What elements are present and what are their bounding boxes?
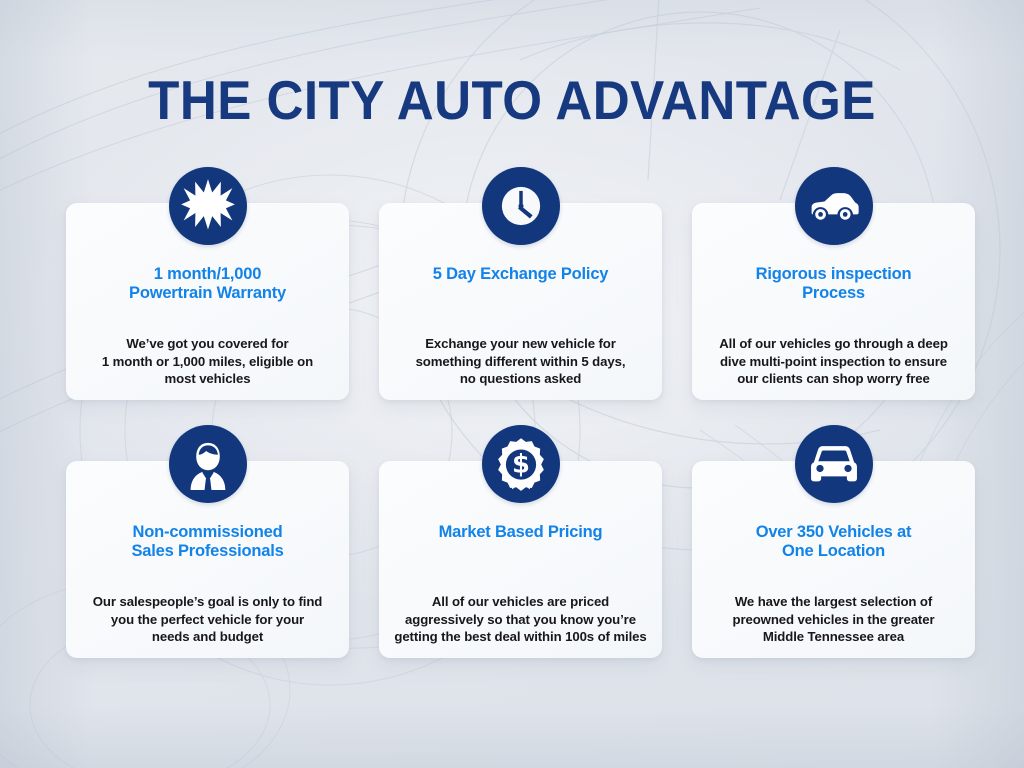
car-side-icon [795, 167, 873, 245]
card-body: We have the largest selection ofpreowned… [702, 593, 965, 646]
card-heading: Over 350 Vehicles atOne Location [704, 523, 963, 561]
advantage-card[interactable]: 5 Day Exchange Policy Exchange your new … [379, 203, 662, 400]
clock-icon [482, 167, 560, 245]
salesperson-icon [169, 425, 247, 503]
card-body: All of our vehicles go through a deepdiv… [702, 335, 965, 388]
starburst-icon [169, 167, 247, 245]
dollar-badge-icon: $ [482, 425, 560, 503]
advantage-card-grid: 1 month/1,000Powertrain Warranty We’ve g… [66, 203, 974, 658]
advantage-card[interactable]: 1 month/1,000Powertrain Warranty We’ve g… [66, 203, 349, 400]
svg-text:$: $ [512, 450, 530, 480]
card-heading: Market Based Pricing [391, 523, 650, 542]
advantage-card[interactable]: $ Market Based Pricing All of our vehicl… [379, 461, 662, 658]
car-front-icon [795, 425, 873, 503]
advantage-card[interactable]: Over 350 Vehicles atOne Location We have… [692, 461, 975, 658]
advantage-infographic: THE CITY AUTO ADVANTAGE 1 month/1,000Pow… [0, 0, 1024, 768]
card-body: Exchange your new vehicle forsomething d… [389, 335, 652, 388]
card-body: Our salespeople’s goal is only to findyo… [76, 593, 339, 646]
card-body: All of our vehicles are pricedaggressive… [389, 593, 652, 646]
card-heading: 5 Day Exchange Policy [391, 265, 650, 284]
card-heading: Rigorous inspectionProcess [704, 265, 963, 303]
advantage-card[interactable]: Non-commissionedSales Professionals Our … [66, 461, 349, 658]
page-title: THE CITY AUTO ADVANTAGE [36, 68, 988, 132]
card-heading: 1 month/1,000Powertrain Warranty [78, 265, 337, 303]
card-heading: Non-commissionedSales Professionals [78, 523, 337, 561]
card-body: We’ve got you covered for1 month or 1,00… [76, 335, 339, 388]
advantage-card[interactable]: Rigorous inspectionProcess All of our ve… [692, 203, 975, 400]
